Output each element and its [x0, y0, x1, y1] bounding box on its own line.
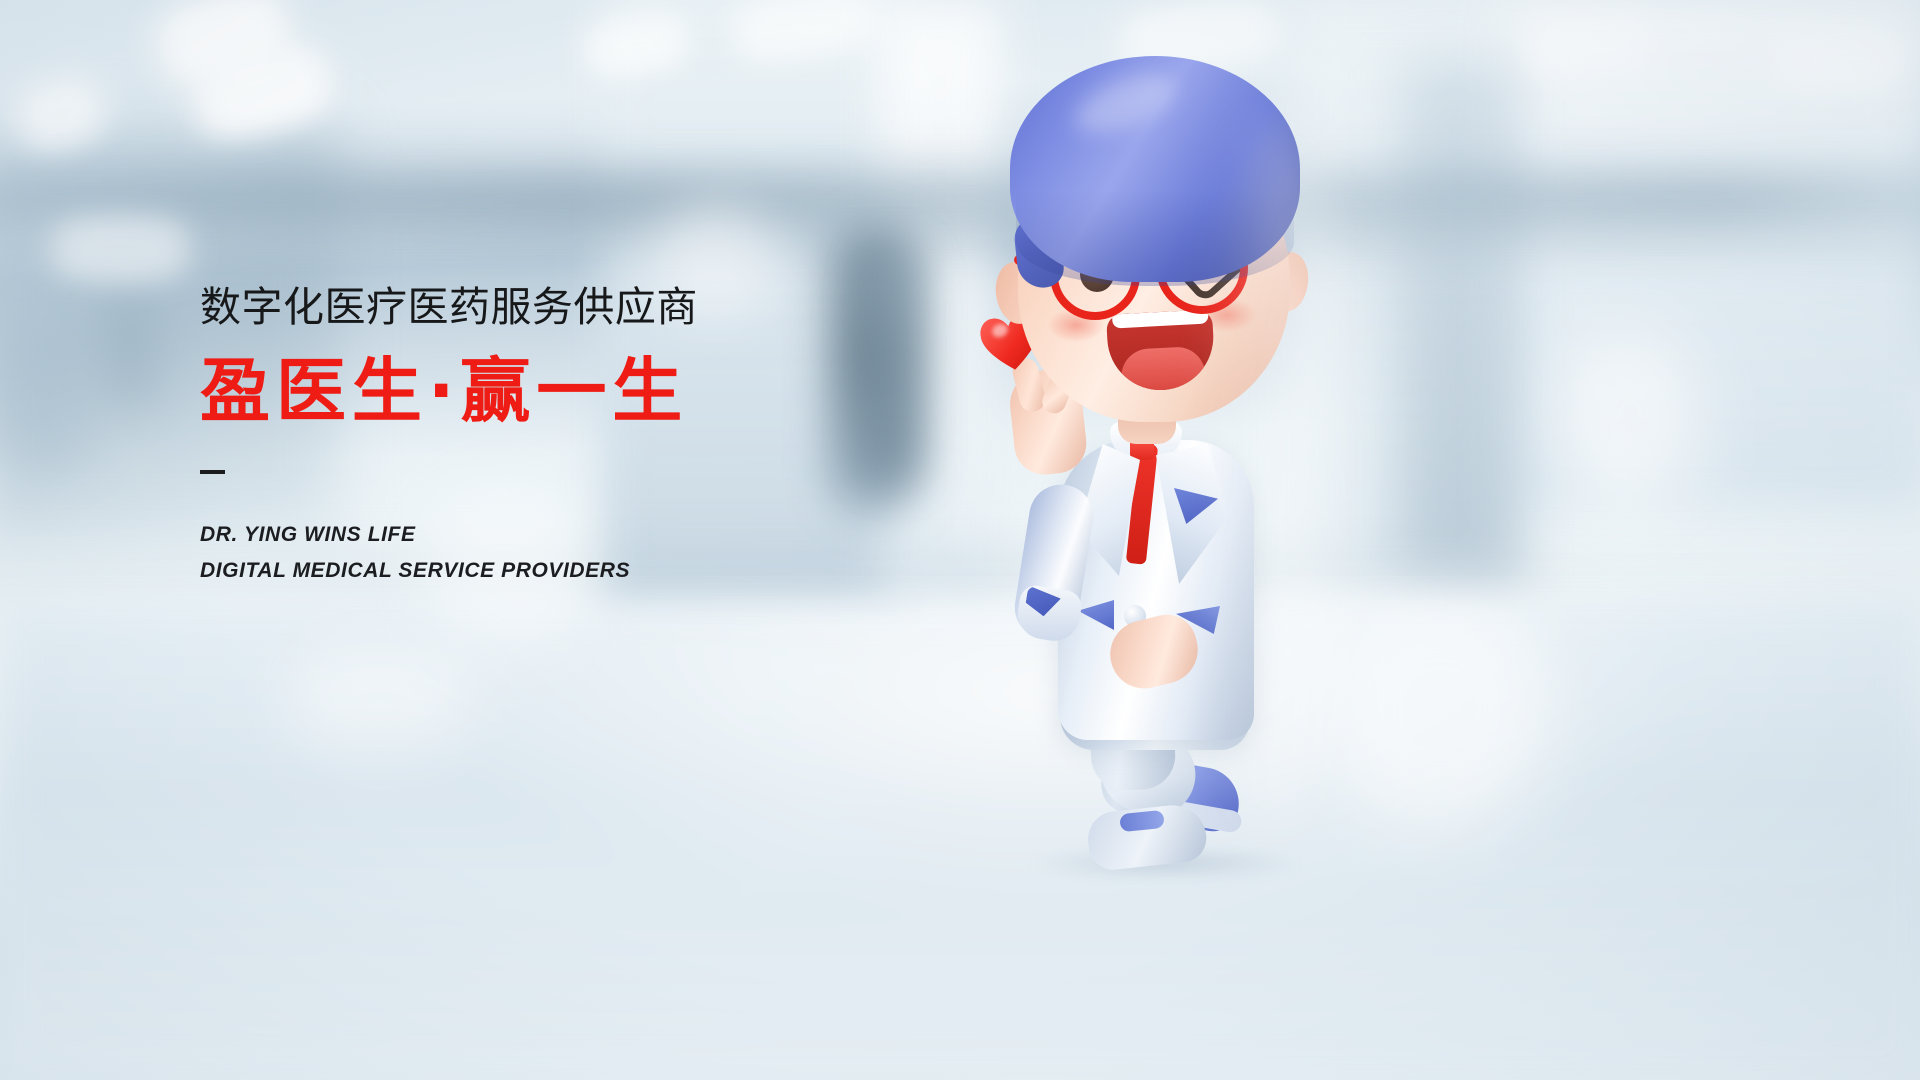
headline-divider-rule: [200, 470, 225, 474]
mascot-rim-light: [1210, 110, 1340, 830]
subtitle-line-2: DIGITAL MEDICAL SERVICE PROVIDERS: [200, 553, 698, 589]
hero-kicker-text: 数字化医疗医药服务供应商: [200, 287, 698, 328]
hero-subtitle-block: DR. YING WINS LIFE DIGITAL MEDICAL SERVI…: [200, 517, 698, 589]
tongue: [1120, 346, 1206, 393]
hero-headline-text: 盈医生·赢一生: [200, 356, 698, 426]
doctor-mascot-illustration: [960, 40, 1380, 860]
hero-copy-block: 数字化医疗医药服务供应商 盈医生·赢一生 DR. YING WINS LIFE …: [200, 287, 698, 589]
subtitle-line-1: DR. YING WINS LIFE: [200, 517, 698, 553]
open-smiling-mouth: [1106, 309, 1216, 392]
hero-banner: 数字化医疗医药服务供应商 盈医生·赢一生 DR. YING WINS LIFE …: [0, 0, 1920, 1080]
